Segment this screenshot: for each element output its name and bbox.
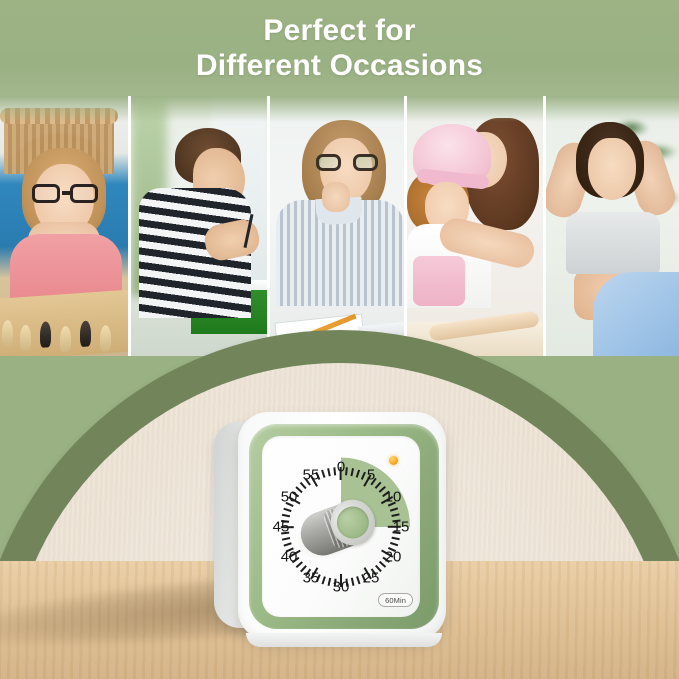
occasion-panel-fitness <box>546 96 679 356</box>
photo-fitness <box>546 96 679 356</box>
dial-number: 5 <box>367 466 375 483</box>
page-title-line1: Perfect for <box>263 13 415 48</box>
eyeglasses-icon <box>316 154 378 172</box>
dial-number: 50 <box>281 488 298 505</box>
dial-number: 35 <box>303 570 320 587</box>
dial-number: 0 <box>337 458 345 475</box>
occasion-photo-strip <box>0 96 679 356</box>
timer-dial[interactable]: 0510152025303540455055 <box>266 452 416 602</box>
product-infographic: Perfect for Different Occasions <box>0 0 679 679</box>
status-led-indicator <box>389 456 398 465</box>
dial-number: 25 <box>363 570 380 587</box>
visual-timer-device[interactable]: 0510152025303540455055 60Min <box>214 412 446 640</box>
dial-number: 10 <box>385 488 402 505</box>
timer-dial-face[interactable]: 0510152025303540455055 60Min <box>262 436 420 617</box>
occasion-panel-game <box>0 96 131 356</box>
woman-hand-shape <box>322 182 350 212</box>
occasion-panel-work <box>270 96 407 356</box>
chess-board-shape <box>0 289 131 356</box>
laptop-shape <box>358 321 407 352</box>
knob-cap-green-inner <box>332 501 373 542</box>
occasion-panel-study <box>131 96 270 356</box>
page-title-line2: Different Occasions <box>196 48 483 83</box>
fitness-legs-shape <box>593 272 679 356</box>
dial-number: 45 <box>273 518 290 535</box>
timer-base-foot <box>246 633 442 647</box>
dial-number: 30 <box>333 578 350 595</box>
duration-badge: 60Min <box>378 593 413 607</box>
eyeglasses-icon <box>30 184 100 204</box>
dial-number: 15 <box>393 518 410 535</box>
occasion-panel-kitchen <box>407 96 546 356</box>
basket-lid-shape <box>0 108 118 124</box>
photo-game <box>0 96 128 356</box>
fitness-face-shape <box>588 138 636 200</box>
child-apron-shape <box>413 256 465 306</box>
dial-number: 55 <box>303 466 320 483</box>
sports-bra-shape <box>566 212 660 274</box>
photo-study <box>131 96 267 356</box>
dial-number: 40 <box>281 548 298 565</box>
header-banner: Perfect for Different Occasions <box>0 0 679 96</box>
photo-kitchen <box>407 96 543 356</box>
photo-work <box>270 96 404 356</box>
dial-number: 20 <box>385 548 402 565</box>
